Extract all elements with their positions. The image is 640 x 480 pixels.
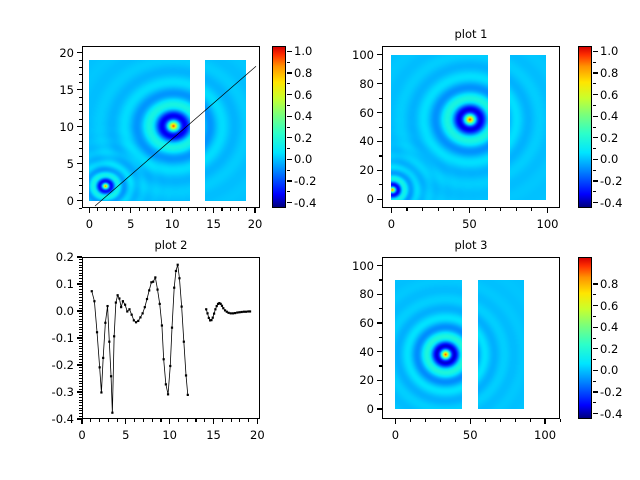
y-minor-tick — [79, 408, 82, 409]
x-minor-tick — [90, 419, 91, 422]
data-point-marker — [106, 305, 108, 307]
y-minor-tick — [79, 286, 82, 287]
y-minor-tick — [79, 292, 82, 293]
x-minor-tick — [108, 419, 109, 422]
plot-title: plot 3 — [382, 238, 560, 252]
plot-title: plot 2 — [82, 238, 260, 252]
data-point-marker — [221, 305, 223, 307]
colorbar-minor-tick — [593, 127, 596, 128]
x-minor-tick — [114, 208, 115, 211]
x-minor-tick — [197, 208, 198, 211]
y-tick — [77, 310, 82, 311]
heatmap-image — [391, 55, 488, 200]
y-tick-label: 80 — [320, 77, 374, 91]
y-minor-tick — [79, 178, 82, 179]
y-tick — [377, 199, 382, 200]
data-point-marker — [154, 276, 156, 278]
y-minor-tick — [79, 297, 82, 298]
data-point-marker — [169, 365, 171, 367]
y-minor-tick — [79, 329, 82, 330]
x-minor-tick — [160, 419, 161, 422]
colorbar-tick-label: 0.0 — [600, 363, 618, 377]
y-minor-tick — [79, 67, 82, 68]
y-tick-label: 100 — [320, 48, 374, 62]
y-minor-tick — [79, 308, 82, 309]
y-tick — [77, 364, 82, 365]
y-minor-tick — [79, 270, 82, 271]
y-tick-label: -0.1 — [20, 331, 74, 345]
x-tick-label: 10 — [165, 217, 180, 231]
colorbar-gradient — [579, 258, 591, 418]
y-minor-tick — [379, 69, 382, 70]
y-tick — [77, 126, 82, 127]
data-point-marker — [117, 294, 119, 296]
data-point-marker — [238, 311, 240, 313]
colorbar-tick-label: 0.4 — [294, 109, 312, 123]
y-tick — [77, 163, 82, 164]
colorbar-tick-label: -0.2 — [294, 174, 316, 188]
data-point-marker — [232, 312, 234, 314]
data-point-marker — [120, 306, 122, 308]
x-minor-tick — [188, 208, 189, 211]
y-tick — [77, 256, 82, 257]
y-minor-tick — [379, 184, 382, 185]
colorbar-tick — [593, 180, 598, 181]
y-tick-label: 5 — [20, 157, 74, 171]
y-tick — [377, 265, 382, 266]
colorbar-tick — [593, 94, 598, 95]
y-tick-label: -0.2 — [20, 358, 74, 372]
data-point-marker — [249, 310, 251, 312]
x-tick-label: 15 — [206, 428, 221, 442]
y-minor-tick — [79, 275, 82, 276]
y-tick — [77, 200, 82, 201]
y-minor-tick — [79, 294, 82, 295]
colorbar-minor-tick — [287, 83, 290, 84]
y-minor-tick — [79, 141, 82, 142]
colorbar-tick-label: 0.4 — [600, 320, 618, 334]
y-tick-label: 60 — [320, 106, 374, 120]
x-tick — [89, 208, 90, 213]
heatmap-canvas — [510, 55, 546, 200]
x-minor-tick — [155, 208, 156, 211]
y-minor-tick — [79, 405, 82, 406]
y-minor-tick — [79, 97, 82, 98]
x-minor-tick — [106, 208, 107, 211]
data-point-marker — [156, 288, 158, 290]
x-tick — [257, 419, 258, 424]
x-tick-label: 100 — [537, 217, 559, 231]
y-minor-tick — [79, 316, 82, 317]
colorbar-minor-tick — [593, 148, 596, 149]
x-tick-label: 5 — [127, 217, 134, 231]
x-minor-tick — [139, 208, 140, 211]
data-point-marker — [139, 316, 141, 318]
data-point-marker — [100, 391, 102, 393]
x-tick-label: 20 — [250, 428, 265, 442]
colorbar-minor-tick — [593, 316, 596, 317]
y-tick-label: 20 — [320, 163, 374, 177]
x-minor-tick — [410, 419, 411, 422]
y-minor-tick — [79, 74, 82, 75]
y-minor-tick — [79, 319, 82, 320]
data-point-marker — [148, 289, 150, 291]
y-tick — [377, 54, 382, 55]
colorbar[interactable] — [272, 46, 286, 208]
x-tick-label: 5 — [122, 428, 129, 442]
data-point-marker — [245, 311, 247, 313]
y-tick-label: 40 — [320, 345, 374, 359]
data-point-marker — [146, 298, 148, 300]
y-minor-tick — [79, 104, 82, 105]
y-minor-tick — [79, 397, 82, 398]
x-tick — [544, 419, 545, 424]
y-minor-tick — [79, 378, 82, 379]
heatmap-canvas — [395, 280, 462, 409]
colorbar-tick — [593, 72, 598, 73]
data-point-marker — [96, 331, 98, 333]
x-minor-tick — [248, 419, 249, 422]
x-minor-tick — [531, 208, 532, 211]
x-minor-tick — [231, 419, 232, 422]
x-minor-tick — [180, 208, 181, 211]
colorbar-tick — [593, 327, 598, 328]
y-tick — [377, 83, 382, 84]
x-minor-tick — [205, 208, 206, 211]
x-minor-tick — [99, 419, 100, 422]
y-minor-tick — [79, 373, 82, 374]
y-minor-tick — [79, 327, 82, 328]
y-minor-tick — [79, 302, 82, 303]
data-point-marker — [243, 311, 245, 313]
y-minor-tick — [79, 193, 82, 194]
colorbar-tick — [593, 305, 598, 306]
x-tick — [469, 208, 470, 213]
y-tick — [77, 391, 82, 392]
x-minor-tick — [440, 419, 441, 422]
y-minor-tick — [79, 185, 82, 186]
y-minor-tick — [79, 321, 82, 322]
heatmap-canvas — [89, 60, 190, 201]
y-minor-tick — [79, 370, 82, 371]
heatmap-image — [510, 55, 546, 200]
colorbar-tick-label: 1.0 — [600, 44, 618, 58]
heatmap-image — [478, 280, 524, 409]
x-minor-tick — [422, 208, 423, 211]
x-tick-label: 15 — [206, 217, 221, 231]
x-tick — [391, 208, 392, 213]
colorbar-tick — [593, 348, 598, 349]
data-point-marker — [102, 357, 104, 359]
y-tick-label: 0.2 — [20, 250, 74, 264]
x-minor-tick — [204, 419, 205, 422]
data-point-marker — [181, 306, 183, 308]
y-minor-tick — [79, 346, 82, 347]
y-tick-label: 20 — [20, 46, 74, 60]
x-minor-tick — [485, 208, 486, 211]
x-tick — [213, 419, 214, 424]
x-tick-label: 10 — [162, 428, 177, 442]
colorbar-minor-tick — [593, 191, 596, 192]
x-tick-label: 0 — [388, 217, 395, 231]
x-tick-label: 20 — [248, 217, 263, 231]
colorbar-tick — [593, 283, 598, 284]
colorbar-minor-tick — [593, 62, 596, 63]
x-minor-tick — [485, 419, 486, 422]
y-minor-tick — [79, 413, 82, 414]
x-tick-label: 50 — [463, 428, 478, 442]
y-minor-tick — [79, 389, 82, 390]
x-tick — [395, 419, 396, 424]
x-minor-tick — [122, 208, 123, 211]
y-minor-tick — [79, 60, 82, 61]
data-point-marker — [165, 383, 167, 385]
data-point-marker — [159, 303, 161, 305]
x-tick — [125, 419, 126, 424]
y-minor-tick — [79, 343, 82, 344]
x-tick-label: 50 — [462, 217, 477, 231]
y-minor-tick — [379, 394, 382, 395]
x-minor-tick — [230, 208, 231, 211]
y-minor-tick — [79, 273, 82, 274]
data-point-marker — [185, 374, 187, 376]
x-tick — [470, 419, 471, 424]
x-minor-tick — [246, 208, 247, 211]
y-minor-tick — [79, 367, 82, 368]
y-minor-tick — [79, 332, 82, 333]
y-minor-tick — [79, 119, 82, 120]
data-point-marker — [177, 264, 179, 266]
x-minor-tick — [406, 208, 407, 211]
data-point-marker — [93, 300, 95, 302]
colorbar-tick — [287, 180, 292, 181]
y-minor-tick — [79, 383, 82, 384]
y-tick-label: 15 — [20, 83, 74, 97]
data-point-marker — [214, 308, 216, 310]
y-tick — [377, 294, 382, 295]
y-tick — [377, 170, 382, 171]
y-minor-tick — [79, 262, 82, 263]
y-minor-tick — [79, 267, 82, 268]
y-minor-tick — [79, 340, 82, 341]
y-tick-label: 0.1 — [20, 277, 74, 291]
y-tick — [377, 408, 382, 409]
x-minor-tick — [500, 208, 501, 211]
colorbar-minor-tick — [287, 105, 290, 106]
x-minor-tick — [239, 419, 240, 422]
colorbar-minor-tick — [593, 105, 596, 106]
colorbar-tick — [593, 391, 598, 392]
x-tick — [254, 208, 255, 213]
y-minor-tick — [379, 127, 382, 128]
data-point-marker — [104, 322, 106, 324]
colorbar-tick-label: 0.8 — [600, 66, 618, 80]
colorbar-tick-label: -0.2 — [600, 385, 622, 399]
y-minor-tick — [79, 134, 82, 135]
x-minor-tick — [221, 208, 222, 211]
y-tick-label: 0.0 — [20, 304, 74, 318]
x-minor-tick — [500, 419, 501, 422]
data-point-marker — [152, 281, 154, 283]
y-minor-tick — [79, 351, 82, 352]
data-point-marker — [91, 290, 93, 292]
colorbar-tick — [287, 72, 292, 73]
y-minor-tick — [379, 308, 382, 309]
colorbar-tick-label: 0.6 — [294, 88, 312, 102]
x-minor-tick — [560, 419, 561, 422]
heatmap-canvas — [391, 55, 488, 200]
x-tick-label: 0 — [78, 428, 85, 442]
data-point-marker — [183, 341, 185, 343]
colorbar-minor-tick — [287, 148, 290, 149]
colorbar-tick — [593, 51, 598, 52]
colorbar-tick-label: 0.8 — [294, 66, 312, 80]
y-tick-label: -0.4 — [20, 412, 74, 426]
y-tick — [377, 112, 382, 113]
y-minor-tick — [79, 171, 82, 172]
data-point-marker — [175, 270, 177, 272]
colorbar-tick — [593, 159, 598, 160]
x-minor-tick — [455, 419, 456, 422]
data-point-marker — [213, 313, 215, 315]
y-tick — [77, 337, 82, 338]
colorbar-tick — [287, 51, 292, 52]
data-point-marker — [115, 301, 117, 303]
colorbar-tick — [287, 94, 292, 95]
heatmap-image — [89, 60, 190, 201]
data-point-marker — [220, 303, 222, 305]
line-series-group — [83, 258, 259, 418]
y-minor-tick — [379, 155, 382, 156]
y-minor-tick — [79, 375, 82, 376]
figure-canvas: 0510152005101520-0.4-0.20.00.20.40.60.81… — [0, 0, 640, 480]
x-minor-tick — [163, 208, 164, 211]
colorbar[interactable] — [578, 46, 592, 208]
y-minor-tick — [379, 337, 382, 338]
colorbar-gradient — [273, 47, 285, 207]
data-point-marker — [161, 324, 163, 326]
data-point-marker — [113, 335, 115, 337]
x-minor-tick — [134, 419, 135, 422]
heatmap-canvas — [478, 280, 524, 409]
data-point-marker — [173, 287, 175, 289]
colorbar-tick — [287, 202, 292, 203]
x-minor-tick — [515, 419, 516, 422]
data-point-marker — [206, 312, 208, 314]
data-point-marker — [222, 307, 224, 309]
y-tick — [377, 141, 382, 142]
data-point-marker — [137, 320, 139, 322]
x-minor-tick — [238, 208, 239, 211]
colorbar-tick-label: 0.6 — [600, 299, 618, 313]
y-tick — [377, 322, 382, 323]
y-tick-label: 40 — [320, 134, 374, 148]
y-minor-tick — [79, 359, 82, 360]
y-minor-tick — [79, 148, 82, 149]
colorbar-minor-tick — [287, 127, 290, 128]
data-point-marker — [241, 311, 243, 313]
colorbar-tick — [287, 159, 292, 160]
y-minor-tick — [379, 365, 382, 366]
colorbar-tick — [593, 137, 598, 138]
y-minor-tick — [79, 386, 82, 387]
colorbar-tick-label: 0.8 — [600, 277, 618, 291]
y-minor-tick — [79, 394, 82, 395]
data-point-marker — [163, 358, 165, 360]
data-point-marker — [187, 394, 189, 396]
x-tick — [169, 419, 170, 424]
colorbar-tick-label: 0.4 — [600, 109, 618, 123]
colorbar-tick-label: 0.0 — [600, 152, 618, 166]
y-minor-tick — [79, 354, 82, 355]
colorbar-gradient — [579, 47, 591, 207]
colorbar-minor-tick — [593, 359, 596, 360]
y-tick-label: -0.3 — [20, 385, 74, 399]
y-tick — [377, 351, 382, 352]
data-point-marker — [234, 312, 236, 314]
y-minor-tick — [79, 410, 82, 411]
y-minor-tick — [79, 356, 82, 357]
colorbar-tick — [287, 137, 292, 138]
y-minor-tick — [79, 111, 82, 112]
colorbar-tick-label: 0.2 — [600, 131, 618, 145]
y-minor-tick — [79, 402, 82, 403]
y-tick — [77, 418, 82, 419]
y-minor-tick — [79, 156, 82, 157]
data-point-marker — [208, 317, 210, 319]
colorbar-tick-label: 0.0 — [294, 152, 312, 166]
colorbar[interactable] — [578, 257, 592, 419]
data-point-marker — [227, 312, 229, 314]
y-tick-label: 20 — [320, 373, 374, 387]
colorbar-minor-tick — [593, 381, 596, 382]
data-point-marker — [178, 277, 180, 279]
data-point-marker — [205, 308, 207, 310]
y-minor-tick — [79, 265, 82, 266]
colorbar-tick-label: 1.0 — [294, 44, 312, 58]
y-tick — [77, 52, 82, 53]
x-minor-tick — [425, 419, 426, 422]
y-tick — [77, 89, 82, 90]
plot-title: plot 1 — [382, 27, 560, 41]
colorbar-minor-tick — [593, 402, 596, 403]
y-tick-label: 100 — [320, 259, 374, 273]
y-tick — [77, 283, 82, 284]
heatmap-image — [205, 60, 246, 201]
data-point-marker — [216, 305, 218, 307]
data-point-marker — [171, 327, 173, 329]
colorbar-tick-label: -0.4 — [294, 196, 316, 210]
x-minor-tick — [152, 419, 153, 422]
x-tick — [172, 208, 173, 213]
x-minor-tick — [530, 419, 531, 422]
heatmap-image — [395, 280, 462, 409]
x-tick — [547, 208, 548, 213]
x-minor-tick — [117, 419, 118, 422]
y-minor-tick — [79, 416, 82, 417]
data-point-marker — [142, 312, 144, 314]
colorbar-tick-label: -0.2 — [600, 174, 622, 188]
colorbar-minor-tick — [287, 170, 290, 171]
data-point-marker — [131, 314, 133, 316]
data-point-marker — [133, 319, 135, 321]
data-point-marker — [110, 375, 112, 377]
y-tick-label: 10 — [20, 120, 74, 134]
data-point-marker — [128, 308, 130, 310]
colorbar-tick-label: 0.2 — [294, 131, 312, 145]
data-point-marker — [210, 319, 212, 321]
x-tick-label: 0 — [86, 217, 93, 231]
